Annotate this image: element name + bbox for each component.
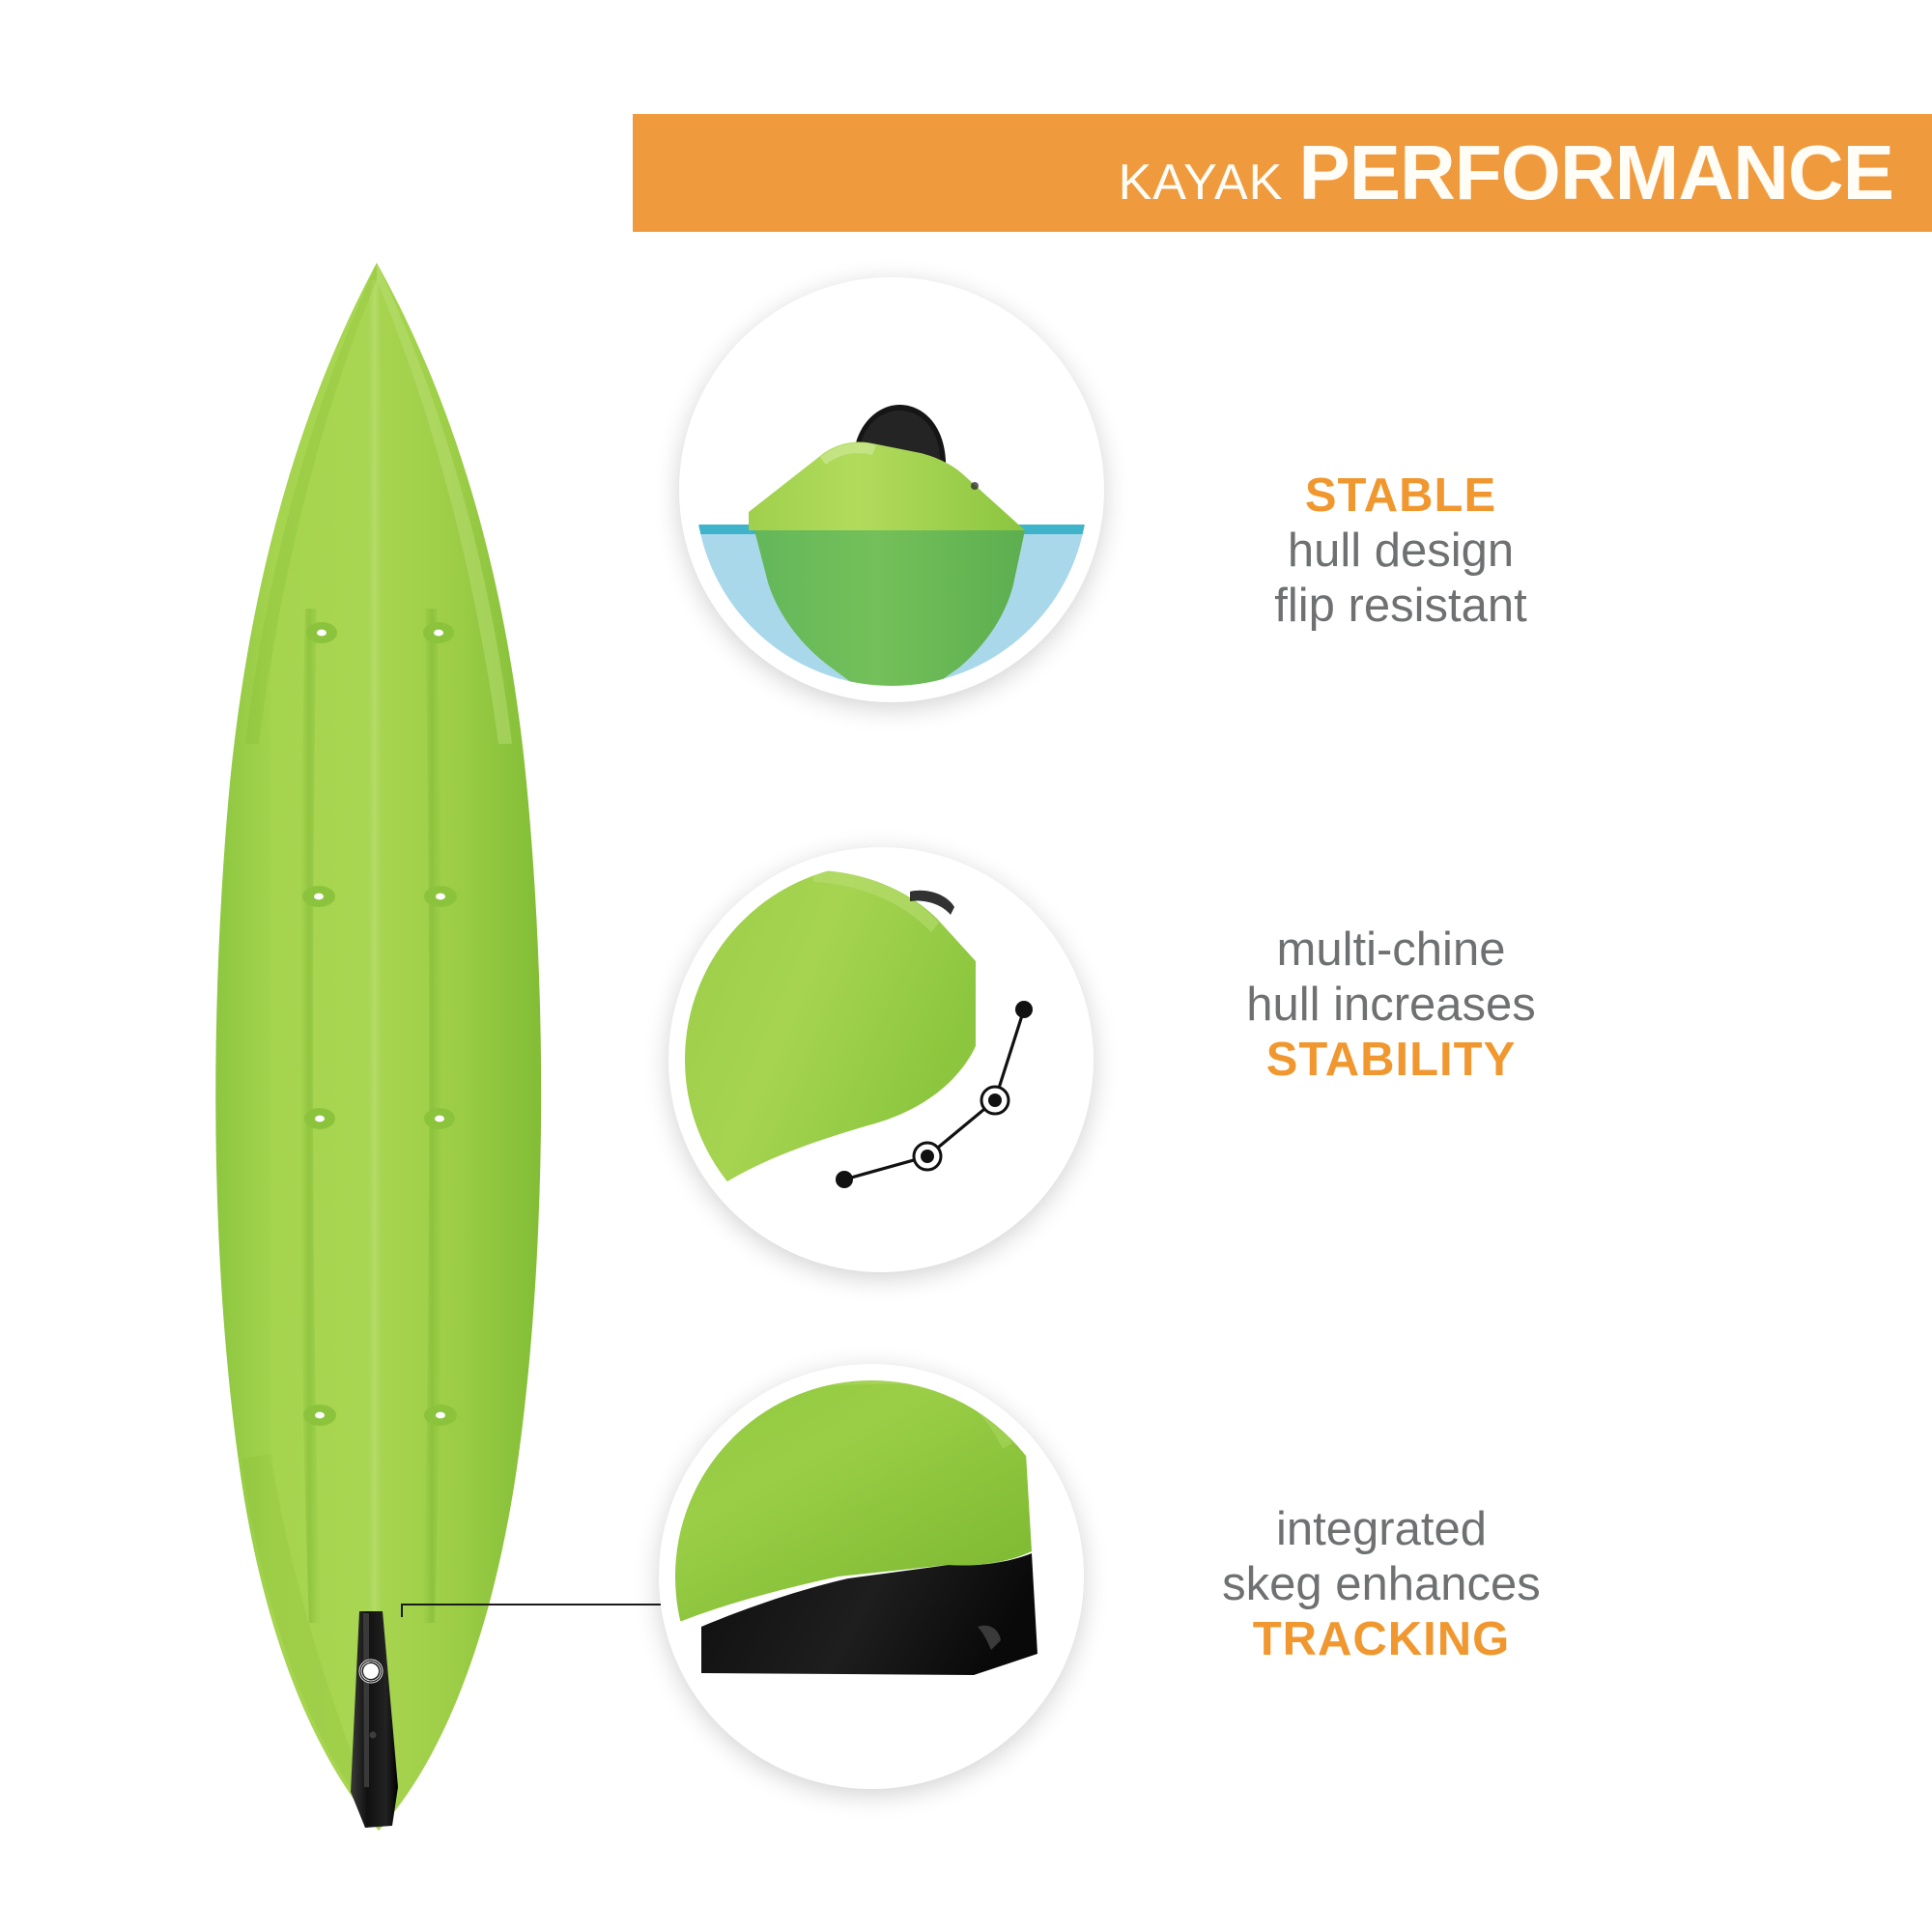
callout-line-stability-2: hull increases — [1082, 978, 1700, 1033]
callout-line-stability-1: multi-chine — [1082, 923, 1700, 978]
infographic-canvas: KAYAK PERFORMANCE — [0, 0, 1932, 1932]
scupper-hole — [424, 886, 457, 907]
header-banner: KAYAK PERFORMANCE — [633, 114, 1932, 232]
multi-chine-hull-icon — [668, 847, 1094, 1272]
kayak-hull-illustration — [116, 241, 618, 1864]
callout-line-stable-1: hull design — [1111, 524, 1690, 579]
callout-headline-tracking: TRACKING — [1063, 1612, 1700, 1667]
callout-line-tracking-1: integrated — [1063, 1502, 1700, 1557]
callout-text-tracking: integrated skeg enhances TRACKING — [1063, 1502, 1700, 1666]
kayak-svg — [116, 241, 618, 1864]
callout-line-tracking-2: skeg enhances — [1063, 1557, 1700, 1612]
scupper-hole — [304, 1108, 335, 1129]
title-bold-word: PERFORMANCE — [1298, 134, 1893, 212]
callout-headline-stability: STABILITY — [1082, 1033, 1700, 1088]
hull-cross-section-icon — [679, 277, 1104, 702]
scupper-hole — [423, 622, 454, 643]
callout-text-stability: multi-chine hull increases STABILITY — [1082, 923, 1700, 1087]
callout-circle-stability — [668, 847, 1094, 1272]
callout-text-stable: STABLE hull design flip resistant — [1111, 469, 1690, 633]
callout-circle-stable — [679, 277, 1104, 702]
scupper-hole — [302, 886, 335, 907]
page-title: KAYAK PERFORMANCE — [1119, 134, 1893, 212]
callout-line-stable-2: flip resistant — [1111, 579, 1690, 634]
scupper-hole — [306, 622, 337, 643]
scupper-hole — [303, 1405, 336, 1426]
title-light-word: KAYAK — [1119, 157, 1284, 208]
leader-line-tick — [401, 1604, 403, 1617]
skeg-fin-icon — [659, 1364, 1084, 1789]
scupper-hole — [424, 1405, 457, 1426]
callout-circle-tracking — [659, 1364, 1084, 1789]
callout-headline-stable: STABLE — [1111, 469, 1690, 524]
scupper-hole — [424, 1108, 455, 1129]
